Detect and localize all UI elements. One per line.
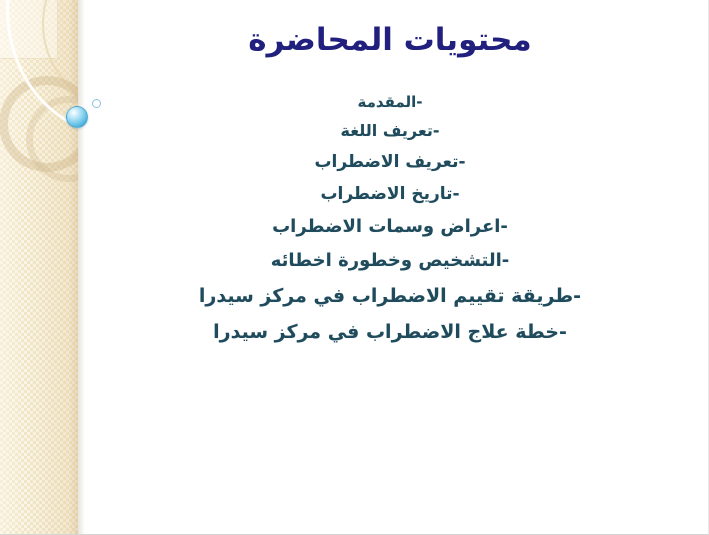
list-item: -تعريف الاضطراب (90, 146, 690, 178)
content-list: -المقدمة -تعريف اللغة -تعريف الاضطراب -ت… (90, 88, 690, 350)
list-item: -التشخيص وخطورة اخطائه (90, 244, 690, 278)
slide-title: محتويات المحاضرة (90, 18, 690, 62)
blue-bubble-icon (66, 106, 88, 128)
list-item: -اعراض وسمات الاضطراب (90, 210, 690, 244)
list-item: -تاريخ الاضطراب (90, 178, 690, 210)
list-item: -طريقة تقييم الاضطراب في مركز سيدرا (90, 278, 690, 314)
decorative-sidebar (0, 0, 78, 535)
list-item: -تعريف اللغة (90, 116, 690, 146)
list-item: -خطة علاج الاضطراب في مركز سيدرا (90, 314, 690, 350)
list-item: -المقدمة (90, 88, 690, 116)
slide-canvas: محتويات المحاضرة -المقدمة -تعريف اللغة -… (0, 0, 709, 535)
sidebar-edge-shadow (78, 0, 85, 535)
